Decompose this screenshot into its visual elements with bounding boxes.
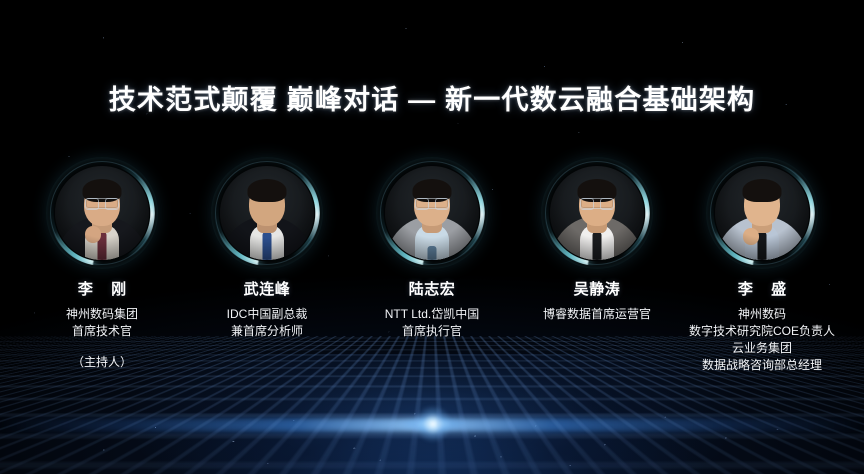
affiliation-line: 数据战略咨询部总经理 xyxy=(689,357,835,374)
avatar-4[interactable] xyxy=(544,160,650,266)
affiliation-line: NTT Ltd.岱凯中国 xyxy=(385,306,479,323)
avatar-1[interactable] xyxy=(49,160,155,266)
avatar-3[interactable] xyxy=(379,160,485,266)
affiliation-line: 首席执行官 xyxy=(385,323,479,340)
conference-panel-slide: 技术范式颠覆 巅峰对话 — 新一代数云融合基础架构 xyxy=(0,0,864,474)
speaker-affiliation: IDC中国副总裁 兼首席分析师 xyxy=(227,306,308,340)
affiliation-line: 兼首席分析师 xyxy=(227,323,308,340)
speaker-card-5[interactable]: 李 盛 神州数码 数字技术研究院COE负责人 云业务集团 数据战略咨询部总经理 xyxy=(680,160,845,374)
affiliation-line: 神州数码 xyxy=(689,306,835,323)
ring-outline xyxy=(710,161,814,265)
affiliation-line: IDC中国副总裁 xyxy=(227,306,308,323)
speaker-affiliation: 神州数码 数字技术研究院COE负责人 云业务集团 数据战略咨询部总经理 xyxy=(689,306,835,374)
speaker-name: 陆志宏 xyxy=(409,281,456,299)
affiliation-line: 云业务集团 xyxy=(689,340,835,357)
speaker-card-1[interactable]: 李 刚 神州数码集团 首席技术官 （主持人） xyxy=(20,160,185,371)
affiliation-line: 首席技术官 xyxy=(66,323,138,340)
ring-outline xyxy=(50,161,154,265)
affiliation-line: 神州数码集团 xyxy=(66,306,138,323)
avatar-2[interactable] xyxy=(214,160,320,266)
speaker-affiliation: 神州数码集团 首席技术官 xyxy=(66,306,138,340)
speaker-name: 吴静涛 xyxy=(574,281,621,299)
avatar-5[interactable] xyxy=(709,160,815,266)
speaker-card-4[interactable]: 吴静涛 博睿数据首席运营官 xyxy=(515,160,680,323)
speaker-affiliation: 博睿数据首席运营官 xyxy=(543,306,651,323)
speaker-name: 李 刚 xyxy=(71,281,133,299)
speaker-list: 李 刚 神州数码集团 首席技术官 （主持人） xyxy=(0,160,864,374)
ring-outline xyxy=(215,161,319,265)
page-title: 技术范式颠覆 巅峰对话 — 新一代数云融合基础架构 xyxy=(0,78,864,117)
speaker-name: 武连峰 xyxy=(244,281,291,299)
affiliation-line: 数字技术研究院COE负责人 xyxy=(689,323,835,340)
ring-outline xyxy=(545,161,649,265)
speaker-affiliation: NTT Ltd.岱凯中国 首席执行官 xyxy=(385,306,479,340)
speaker-card-2[interactable]: 武连峰 IDC中国副总裁 兼首席分析师 xyxy=(185,160,350,340)
affiliation-line: 博睿数据首席运营官 xyxy=(543,306,651,323)
speaker-name: 李 盛 xyxy=(731,281,793,299)
speaker-role-note: （主持人） xyxy=(72,354,132,371)
speaker-card-3[interactable]: 陆志宏 NTT Ltd.岱凯中国 首席执行官 xyxy=(350,160,515,340)
ring-outline xyxy=(380,161,484,265)
